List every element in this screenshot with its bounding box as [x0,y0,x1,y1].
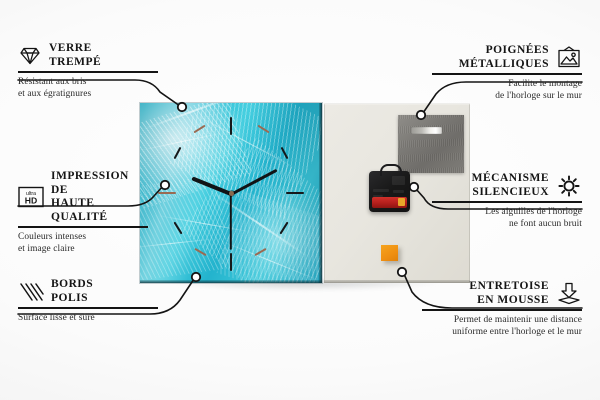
callout-sub-line1: Permet de maintenir une distance [422,314,582,326]
callout-title-line1: ENTRETOISE [469,280,549,294]
callout-sub-line1: Facilite le montage [432,78,582,90]
hanger-slot [411,127,442,134]
glass-clock-face [140,103,322,283]
callout-impression-haute-qualite: ultra HD IMPRESSION DE HAUTE QUALITÉ Cou… [18,170,148,255]
callout-bords-polis: BORDS POLIS Surface lisse et sûre [18,278,158,324]
infographic-canvas: VERRE TREMPÉ Résistant aux bris et aux é… [0,0,600,400]
callout-title-line1: POIGNÉES [459,44,549,58]
clock-hub [229,191,234,196]
callout-title-line1: VERRE [49,42,101,56]
callout-sub-line1: Surface lisse et sûre [18,312,158,324]
ultra-hd-icon: ultra HD [18,186,44,208]
callout-title-line2: MÉTALLIQUES [459,58,549,72]
foam-spacer [381,245,398,261]
picture-hanger-icon [556,46,582,69]
callout-header: ultra HD IMPRESSION DE HAUTE QUALITÉ [18,170,148,224]
callout-header: VERRE TREMPÉ [18,42,158,69]
callout-rule [18,226,148,227]
callout-header: POIGNÉES MÉTALLIQUES [432,44,582,71]
tick-6 [230,253,232,271]
callout-title-line1: MÉCANISME [472,172,549,186]
callout-header: MÉCANISME SILENCIEUX [432,172,582,199]
glass-right-edge [319,103,322,283]
glass-bottom-edge [140,280,322,283]
callout-mecanisme-silencieux: MÉCANISME SILENCIEUX Les aiguilles de l'… [432,172,582,230]
callout-poignees-metalliques: POIGNÉES MÉTALLIQUES Facilite le montage… [432,44,582,102]
battery-positive-terminal [398,198,405,206]
callout-verre-trempe: VERRE TREMPÉ Résistant aux bris et aux é… [18,42,158,100]
back-panel-top-edge [324,103,470,105]
callout-title-line2: TREMPÉ [49,56,101,70]
callout-sub-line2: et image claire [18,243,148,255]
callout-rule [432,73,582,74]
gear-icon [556,174,582,198]
callout-rule [422,309,582,310]
svg-text:HD: HD [25,196,37,206]
callout-rule [18,307,158,308]
callout-sub-line2: de l'horloge sur le mur [432,90,582,102]
tick-12 [230,117,232,135]
product-photo [140,103,470,283]
mechanism-hanging-loop [380,164,402,176]
callout-title-line1: IMPRESSION DE [51,170,148,197]
foam-spacer-icon [556,282,582,306]
callout-sub-line1: Couleurs intenses [18,231,148,243]
callout-rule [432,201,582,202]
polished-edge-icon [18,281,44,303]
callout-sub-line2: ne font aucun bruit [432,218,582,230]
callout-sub-line2: uniforme entre l'horloge et le mur [422,326,582,338]
second-hand [230,194,232,250]
callout-title-line2: EN MOUSSE [469,294,549,308]
callout-title-line2: POLIS [51,292,93,306]
tick-9 [158,192,176,194]
callout-title-line2: HAUTE QUALITÉ [51,197,148,224]
callout-sub-line2: et aux égratignures [18,88,158,100]
callout-title-line1: BORDS [51,278,93,292]
metal-hanger-plate [398,115,464,173]
callout-entretoise-en-mousse: ENTRETOISE EN MOUSSE Permet de maintenir… [422,280,582,338]
silent-clock-mechanism [369,171,410,212]
callout-rule [18,71,158,72]
product-shadow [142,281,468,295]
callout-sub-line1: Résistant aux bris [18,76,158,88]
callout-header: BORDS POLIS [18,278,158,305]
battery [372,197,407,208]
callout-title-line2: SILENCIEUX [472,186,549,200]
callout-header: ENTRETOISE EN MOUSSE [422,280,582,307]
callout-sub-line1: Les aiguilles de l'horloge [432,206,582,218]
diamond-icon [18,46,42,66]
